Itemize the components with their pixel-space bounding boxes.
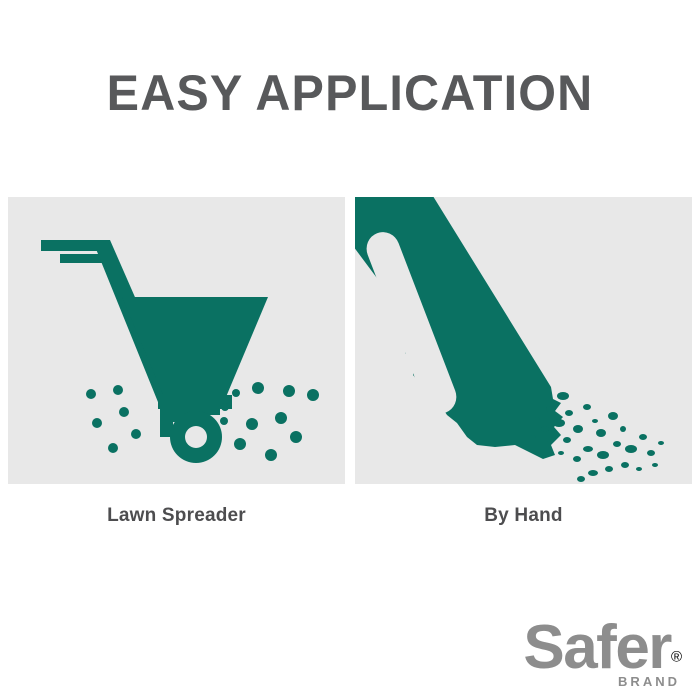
caption-by-hand: By Hand — [355, 505, 692, 527]
granule-group-right — [220, 382, 319, 461]
registered-trademark-icon: ® — [671, 649, 682, 666]
poster-root: EASY APPLICATION — [0, 0, 700, 700]
hand-spreading-icon — [355, 197, 692, 484]
granule-group-left — [86, 385, 141, 453]
caption-lawn-spreader: Lawn Spreader — [8, 505, 345, 527]
safer-brand-logo: Safer® BRAND — [523, 617, 682, 688]
logo-wordmark: Safer — [523, 617, 671, 679]
panel-by-hand — [355, 197, 692, 484]
page-title: EASY APPLICATION — [11, 64, 690, 122]
lawn-spreader-icon — [8, 197, 345, 484]
panel-lawn-spreader — [8, 197, 345, 484]
